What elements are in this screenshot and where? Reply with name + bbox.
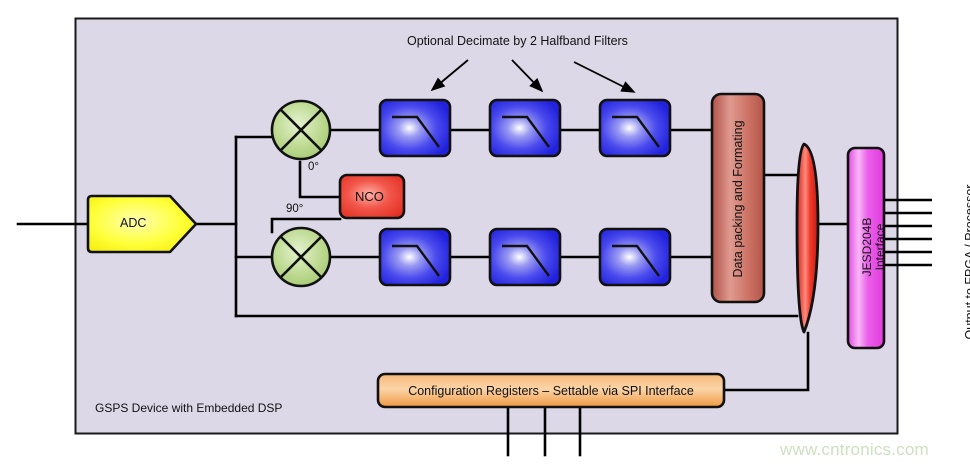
mixer-bottom-phase-label: 90° [286, 203, 303, 215]
mixer-bottom[interactable] [272, 228, 330, 286]
output-destination-label: Output to FPGA / Processor [963, 172, 970, 352]
halfband-filter-q-1[interactable] [380, 229, 450, 285]
jesd204b-label-line1: JESD204B [860, 192, 874, 302]
site-watermark: www.cntronics.com [780, 440, 929, 460]
mixer-top-phase-label: 0° [308, 161, 319, 173]
mixer-top[interactable] [272, 101, 330, 159]
data-packing-label: Data packing and Formating [731, 117, 745, 281]
device-panel [76, 19, 898, 434]
panel-caption: GSPS Device with Embedded DSP [95, 401, 282, 415]
halfband-filter-q-2[interactable] [490, 229, 560, 285]
halfband-filter-q-3[interactable] [600, 229, 670, 285]
jesd204b-label-line2: Interface [873, 192, 887, 302]
config-registers-label: Configuration Registers – Settable via S… [378, 384, 724, 398]
nco-label: NCO [355, 189, 384, 204]
block-diagram: Optional Decimate by 2 Halfband Filters … [0, 0, 970, 472]
adc-label: ADC [120, 216, 146, 230]
halfband-filter-i-1[interactable] [380, 100, 450, 156]
halfband-filter-i-3[interactable] [600, 100, 670, 156]
annotation-label: Optional Decimate by 2 Halfband Filters [407, 34, 628, 48]
halfband-filter-i-2[interactable] [490, 100, 560, 156]
